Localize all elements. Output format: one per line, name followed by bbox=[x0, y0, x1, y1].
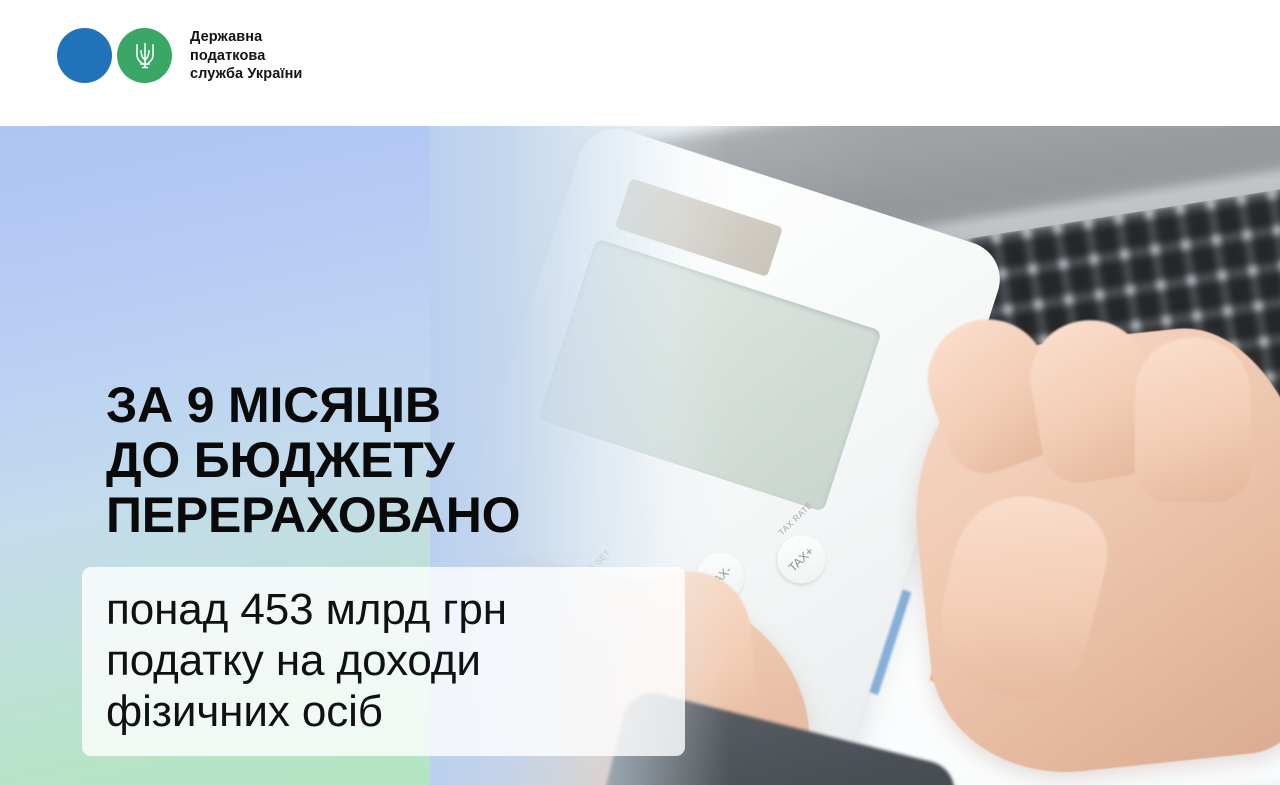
logo-text-line-3: служба України bbox=[190, 65, 302, 84]
page-title: ЗА 9 МІСЯЦІВ ДО БЮДЖЕТУ ПЕРЕРАХОВАНО bbox=[106, 378, 520, 543]
subtitle-card: понад 453 млрд грн податку на доходи фіз… bbox=[82, 567, 685, 756]
subtitle-text: понад 453 млрд грн податку на доходи фіз… bbox=[106, 584, 507, 737]
organization-logo[interactable]: Державна податкова служба України bbox=[57, 28, 302, 84]
logo-text-line-2: податкова bbox=[190, 47, 302, 66]
logo-blue-circle-icon bbox=[57, 28, 112, 83]
poster-canvas: TAX RATE RATE SET TAX+ TAX- M+ % M- √ MR… bbox=[0, 0, 1280, 785]
header-bar: Державна податкова служба України bbox=[0, 0, 1280, 126]
logo-green-circle-icon bbox=[117, 28, 172, 83]
background-stage: TAX RATE RATE SET TAX+ TAX- M+ % M- √ MR… bbox=[0, 126, 1280, 785]
organization-name: Державна податкова служба України bbox=[190, 28, 302, 84]
logo-text-line-1: Державна bbox=[190, 28, 302, 47]
ukrainian-trident-icon bbox=[133, 40, 157, 72]
